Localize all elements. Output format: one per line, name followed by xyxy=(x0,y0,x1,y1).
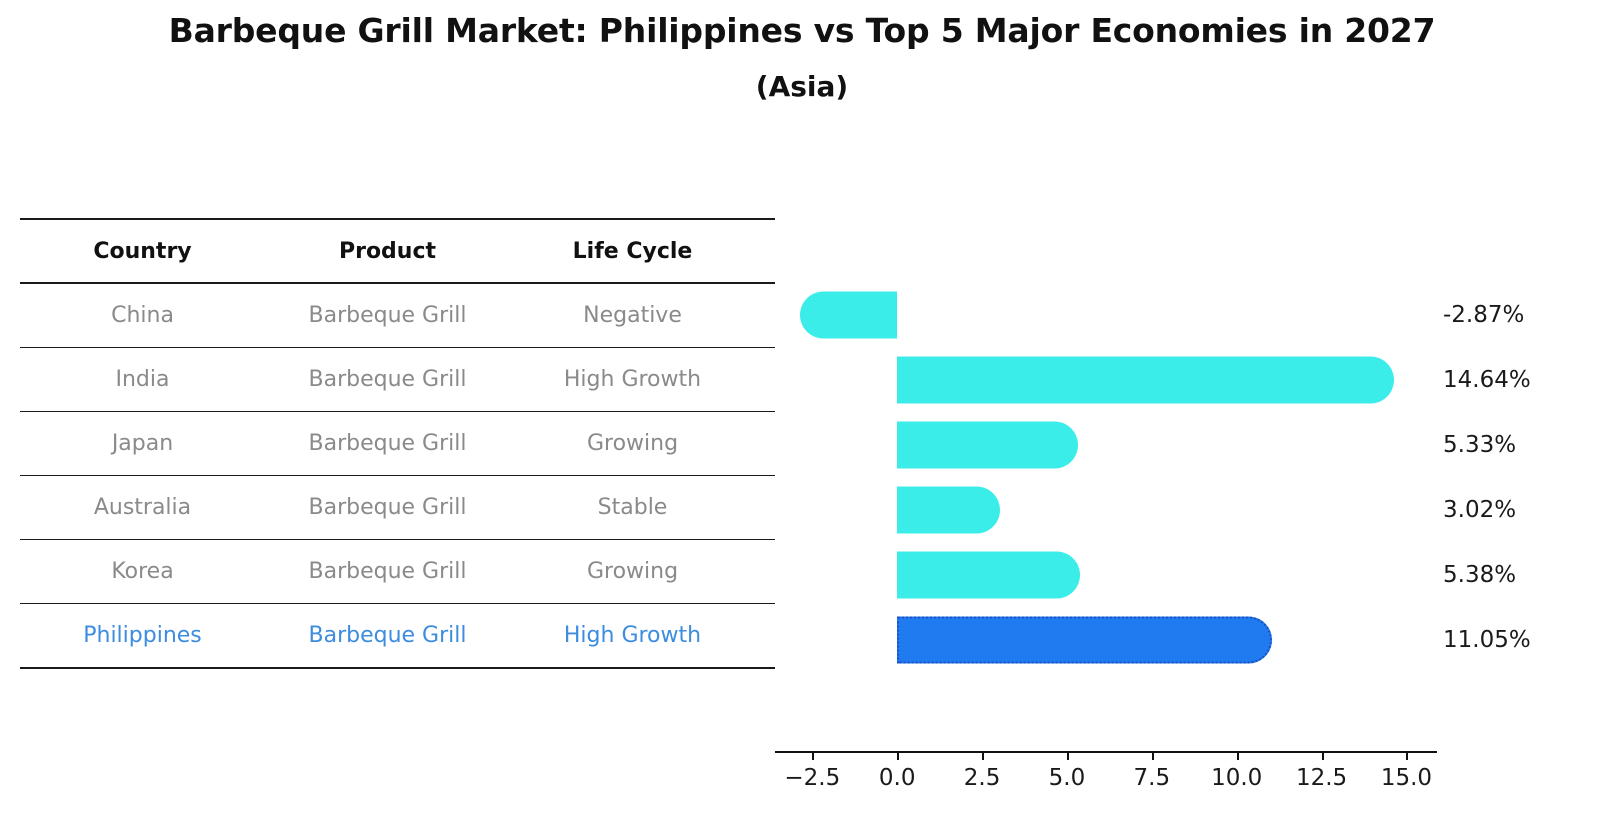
table-row: India Barbeque Grill High Growth xyxy=(20,348,775,411)
x-axis-tick-label: 15.0 xyxy=(1381,765,1432,791)
table-row: Japan Barbeque Grill Growing xyxy=(20,412,775,475)
bar-value-label: -2.87% xyxy=(1443,302,1524,328)
column-header-country: Country xyxy=(20,239,265,264)
cell-country: Philippines xyxy=(20,623,265,648)
cell-life-cycle: High Growth xyxy=(510,623,755,648)
table-row: Korea Barbeque Grill Growing xyxy=(20,540,775,603)
cell-country: Australia xyxy=(20,495,265,520)
cell-product: Barbeque Grill xyxy=(265,559,510,584)
x-axis-tick-label: −2.5 xyxy=(784,765,840,791)
cell-life-cycle: Stable xyxy=(510,495,755,520)
cell-life-cycle: High Growth xyxy=(510,367,755,392)
x-axis-tick xyxy=(1322,751,1324,760)
data-table: Country Product Life Cycle China Barbequ… xyxy=(20,218,775,669)
cell-life-cycle: Growing xyxy=(510,431,755,456)
title-block: Barbeque Grill Market: Philippines vs To… xyxy=(0,10,1604,104)
cell-product: Barbeque Grill xyxy=(265,431,510,456)
bar-chart: -2.87% 14.64% 5.33% 3.02% 5.38% 11.05% −… xyxy=(775,218,1585,738)
x-axis-tick xyxy=(1406,751,1408,760)
bar-row: -2.87% xyxy=(775,282,1437,347)
x-axis-tick-label: 7.5 xyxy=(1134,765,1171,791)
bar-row: 5.33% xyxy=(775,412,1437,477)
plot-area: -2.87% 14.64% 5.33% 3.02% 5.38% 11.05% −… xyxy=(775,282,1437,687)
table-bottom-rule xyxy=(20,667,775,669)
cell-life-cycle: Negative xyxy=(510,303,755,328)
table-row: Australia Barbeque Grill Stable xyxy=(20,476,775,539)
cell-country: Japan xyxy=(20,431,265,456)
x-axis-tick-label: 12.5 xyxy=(1296,765,1347,791)
cell-life-cycle: Growing xyxy=(510,559,755,584)
bar-row: 3.02% xyxy=(775,477,1437,542)
x-axis-tick-label: 0.0 xyxy=(879,765,916,791)
bar-australia xyxy=(897,486,1000,533)
bar-india xyxy=(897,356,1394,403)
bar-row: 5.38% xyxy=(775,542,1437,607)
cell-product: Barbeque Grill xyxy=(265,495,510,520)
x-axis-tick xyxy=(897,751,899,760)
x-axis-tick-label: 2.5 xyxy=(964,765,1001,791)
bar-value-label: 5.33% xyxy=(1443,432,1516,458)
column-header-product: Product xyxy=(265,239,510,264)
bar-value-label: 14.64% xyxy=(1443,367,1531,393)
x-axis-tick-label: 10.0 xyxy=(1211,765,1262,791)
bar-philippines xyxy=(897,616,1272,663)
cell-country: India xyxy=(20,367,265,392)
cell-product: Barbeque Grill xyxy=(265,303,510,328)
cell-product: Barbeque Grill xyxy=(265,367,510,392)
x-axis-tick xyxy=(1067,751,1069,760)
bar-row: 14.64% xyxy=(775,347,1437,412)
x-axis-tick xyxy=(1152,751,1154,760)
x-axis-tick-label: 5.0 xyxy=(1049,765,1086,791)
bar-korea xyxy=(897,551,1080,598)
column-header-life-cycle: Life Cycle xyxy=(510,239,755,264)
table-row: China Barbeque Grill Negative xyxy=(20,284,775,347)
table-row-highlighted: Philippines Barbeque Grill High Growth xyxy=(20,604,775,667)
table-header-row: Country Product Life Cycle xyxy=(20,220,775,282)
bar-value-label: 5.38% xyxy=(1443,562,1516,588)
bar-value-label: 3.02% xyxy=(1443,497,1516,523)
x-axis-tick xyxy=(1237,751,1239,760)
cell-product: Barbeque Grill xyxy=(265,623,510,648)
bar-value-label: 11.05% xyxy=(1443,627,1531,653)
x-axis-tick xyxy=(812,751,814,760)
cell-country: Korea xyxy=(20,559,265,584)
bar-japan xyxy=(897,421,1078,468)
bar-row: 11.05% xyxy=(775,607,1437,672)
bar-china xyxy=(800,291,897,338)
x-axis-tick xyxy=(982,751,984,760)
page-subtitle: (Asia) xyxy=(0,69,1604,104)
page-title: Barbeque Grill Market: Philippines vs To… xyxy=(0,10,1604,51)
x-axis-line xyxy=(775,751,1437,753)
cell-country: China xyxy=(20,303,265,328)
